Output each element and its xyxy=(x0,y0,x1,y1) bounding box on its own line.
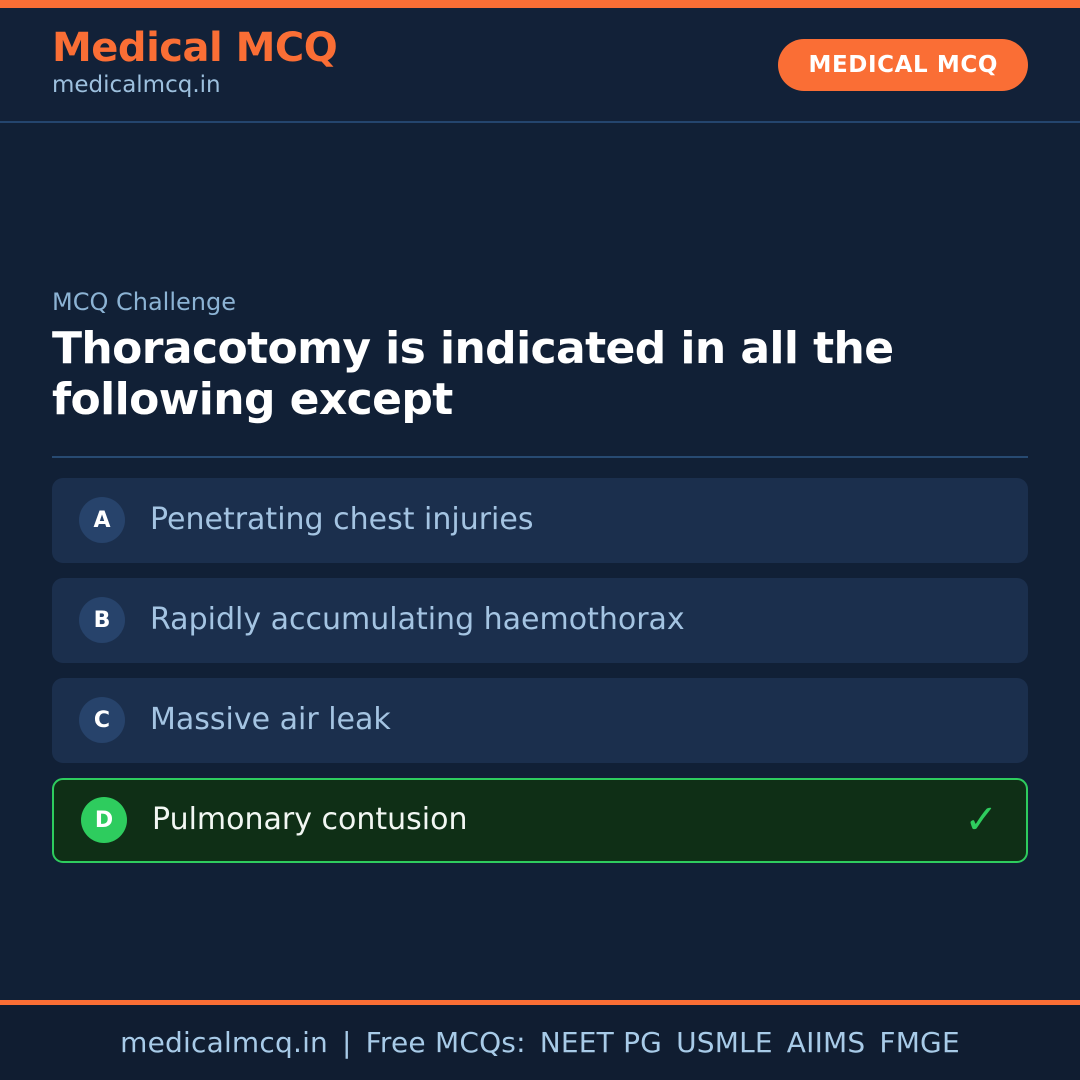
top-accent-bar xyxy=(0,0,1080,8)
footer-site: medicalmcq.in xyxy=(120,1026,328,1059)
footer-separator: | xyxy=(342,1026,352,1059)
option-text: Rapidly accumulating haemothorax xyxy=(150,602,685,638)
option-row-a[interactable]: A Penetrating chest injuries ✓ xyxy=(52,478,1028,563)
option-text: Pulmonary contusion xyxy=(152,802,467,838)
brand-subtitle: medicalmcq.in xyxy=(52,71,337,100)
option-row-b[interactable]: B Rapidly accumulating haemothorax ✓ xyxy=(52,578,1028,663)
mcq-card: Medical MCQ medicalmcq.in MEDICAL MCQ MC… xyxy=(0,0,1080,1080)
option-letter-badge: B xyxy=(79,597,125,643)
question-divider xyxy=(52,456,1028,458)
brand-title: Medical MCQ xyxy=(52,27,337,69)
question-text: Thoracotomy is indicated in all the foll… xyxy=(52,323,952,425)
header: Medical MCQ medicalmcq.in MEDICAL MCQ xyxy=(0,8,1080,121)
option-row-d[interactable]: D Pulmonary contusion ✓ xyxy=(52,778,1028,863)
kicker-label: MCQ Challenge xyxy=(52,288,1028,317)
options-list: A Penetrating chest injuries ✓ B Rapidly… xyxy=(52,478,1028,863)
check-icon: ✓ xyxy=(964,800,998,840)
top-spacer xyxy=(52,123,1028,288)
option-text: Penetrating chest injuries xyxy=(150,502,533,538)
option-letter-badge: C xyxy=(79,697,125,743)
option-row-c[interactable]: C Massive air leak ✓ xyxy=(52,678,1028,763)
footer-text: medicalmcq.in | Free MCQs: NEET PG USMLE… xyxy=(120,1026,960,1059)
footer-exam-fmge: FMGE xyxy=(879,1026,959,1059)
option-text: Massive air leak xyxy=(150,702,391,738)
brand: Medical MCQ medicalmcq.in xyxy=(52,27,337,100)
header-badge: MEDICAL MCQ xyxy=(778,39,1028,91)
footer: medicalmcq.in | Free MCQs: NEET PG USMLE… xyxy=(0,1005,1080,1080)
content-area: MCQ Challenge Thoracotomy is indicated i… xyxy=(0,123,1080,1000)
option-letter-badge: A xyxy=(79,497,125,543)
option-letter-badge: D xyxy=(81,797,127,843)
footer-exam-usmle: USMLE xyxy=(676,1026,773,1059)
footer-wrap: medicalmcq.in | Free MCQs: NEET PG USMLE… xyxy=(0,1000,1080,1080)
footer-exam-aiims: AIIMS xyxy=(787,1026,866,1059)
footer-label: Free MCQs: xyxy=(366,1026,526,1059)
footer-exams: NEET PG USMLE AIIMS FMGE xyxy=(540,1026,960,1059)
footer-exam-neetpg: NEET PG xyxy=(540,1026,662,1059)
